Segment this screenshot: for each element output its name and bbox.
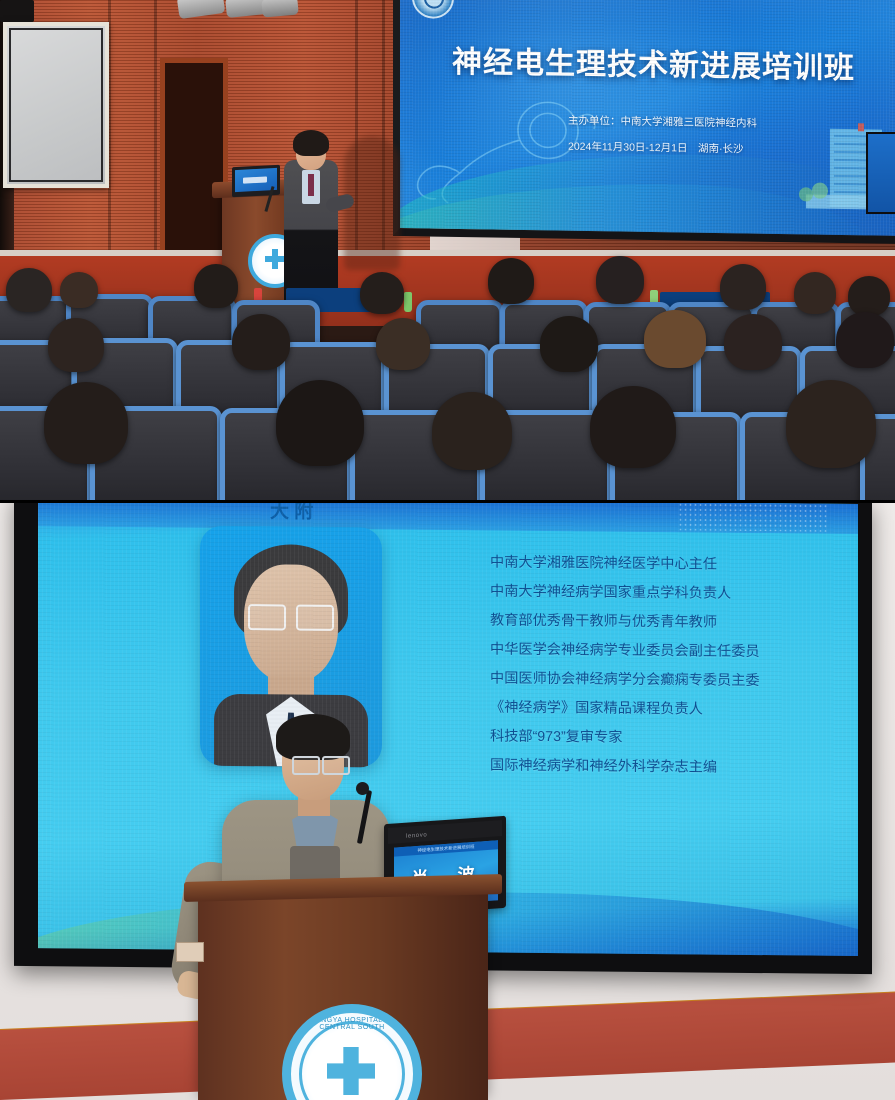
emblem-text: XIANGYA HOSPITAL OF CENTRAL SOUTH — [291, 1017, 413, 1031]
attendee-head — [644, 310, 706, 368]
attendee-head — [48, 318, 104, 372]
attendee-head-foreground — [432, 392, 512, 470]
attendee-head — [794, 272, 836, 314]
speaker-glasses-icon — [292, 756, 350, 772]
led-banner-screen: 神经电生理技术新进展培训班 主办单位：中南大学湘雅三医院神经内科 2024年11… — [393, 0, 895, 244]
laptop-screen-title: 神经电生理技术新进展培训班 — [394, 840, 498, 856]
attendee-head — [848, 276, 890, 316]
whiteboard-frame — [9, 28, 103, 182]
whiteboard — [3, 22, 109, 188]
attendee-head — [488, 258, 534, 304]
doorway — [160, 58, 228, 268]
attendee-head-foreground — [276, 380, 364, 466]
podium-label-sticker — [176, 942, 204, 962]
attendee-head — [232, 314, 290, 370]
panel-divider — [0, 500, 895, 503]
attendee-head — [376, 318, 430, 370]
attendee-head-foreground — [786, 380, 876, 468]
attendee-head — [360, 272, 404, 314]
ceiling-speaker-box — [0, 0, 34, 22]
speaker-hair — [276, 714, 350, 760]
microphone-head-icon — [356, 782, 369, 795]
attendee-head — [540, 316, 598, 372]
attendee-head-foreground — [590, 386, 676, 468]
podium-bottom-panel: XIANGYA HOSPITAL OF CENTRAL SOUTH — [198, 892, 488, 1100]
attendee-head-foreground — [44, 382, 128, 464]
attendee-head — [720, 264, 766, 310]
laptop-brand-label: lenovo — [406, 832, 427, 839]
attendee-head — [724, 314, 782, 370]
attendee-head — [6, 268, 52, 312]
hospital-cross-emblem: XIANGYA HOSPITAL OF CENTRAL SOUTH — [282, 1004, 422, 1100]
side-display — [866, 132, 895, 214]
led-pixel-texture — [400, 0, 895, 236]
attendee-head — [836, 312, 894, 368]
top-panel-auditorium: 神经电生理技术新进展培训班 主办单位：中南大学湘雅三医院神经内科 2024年11… — [0, 0, 895, 502]
attendee-head — [596, 256, 644, 304]
attendee-head — [194, 264, 238, 308]
water-bottle — [404, 292, 412, 312]
photo-composite: 神经电生理技术新进展培训班 主办单位：中南大学湘雅三医院神经内科 2024年11… — [0, 0, 895, 1100]
presenter-scarf — [308, 174, 314, 196]
presenter-hair — [293, 130, 329, 156]
cross-icon — [265, 249, 285, 269]
attendee-head — [60, 272, 98, 308]
